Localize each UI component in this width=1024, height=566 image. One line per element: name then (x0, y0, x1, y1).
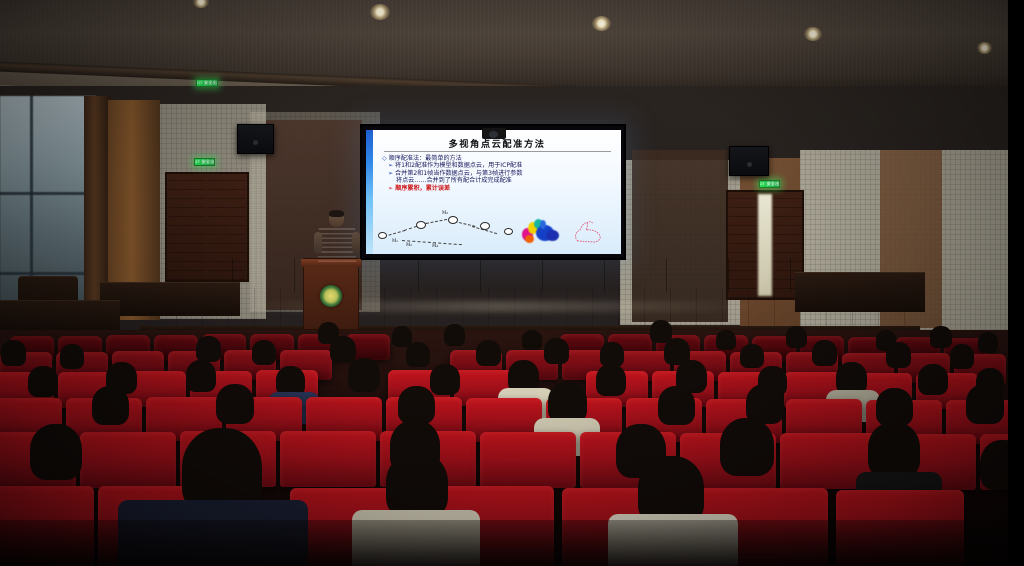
bullet-text-2: 合并第2和1帧当作数据点云，与第3帧进行参数 (395, 170, 522, 177)
audience-head (868, 422, 920, 478)
audience-head (548, 382, 587, 423)
ceiling-light-5 (977, 42, 992, 54)
audience-head (28, 366, 58, 397)
projection-screen: 多视角点云配准方法 ◇ 顺序配准法：最简单的方法 ➢ 将1和2配准作为模型和数据… (362, 126, 624, 258)
audience-head (876, 388, 913, 426)
audience-head (740, 344, 764, 368)
audience-head (918, 364, 948, 395)
presenter-torso (318, 225, 356, 262)
audience-head (92, 386, 129, 425)
presenter-hair (329, 210, 344, 217)
graph-node-5 (504, 228, 513, 235)
slide-figure: M₁ M₂ M₃ M₄ (372, 210, 617, 252)
bullet-text-1: 将1和2配准作为模型和数据点云，用于ICP配准 (395, 162, 522, 169)
bullet-text-0: 顺序配准法：最简单的方法 (389, 155, 462, 162)
seat (80, 432, 176, 488)
audience-head (216, 384, 254, 424)
audience-head (330, 336, 356, 363)
slide-title-rule (384, 151, 611, 152)
exit-sign-left: EXIT 安全出口 (194, 158, 215, 166)
side-table-left (100, 282, 240, 316)
audience-head (1, 340, 26, 366)
slide-bullet-list: ◇ 顺序配准法：最简单的方法 ➢ 将1和2配准作为模型和数据点云，用于ICP配准… (382, 155, 615, 192)
audience-head (886, 342, 911, 368)
audience-head (544, 338, 569, 364)
audience-head (720, 418, 774, 476)
audience-head (60, 344, 84, 369)
slide-bullet-1: ➢ 将1和2配准作为模型和数据点云，用于ICP配准 (382, 162, 615, 169)
graph-label-M4: M₄ (432, 243, 438, 248)
audience-head (196, 336, 221, 362)
graph-label-M2: M₂ (406, 242, 412, 247)
audience-head (658, 386, 695, 425)
projector-mount (482, 128, 506, 139)
auditorium-photo: EXIT 安全出口 EXIT 安全出口 EXIT 安全出口 多视角点云配准方法 … (0, 0, 1024, 566)
audience-head (406, 342, 430, 367)
audience-head (398, 386, 435, 424)
audience-head (786, 326, 807, 348)
presenter-arm-left (314, 232, 322, 254)
audience-head (386, 452, 448, 518)
foreground-shadow (0, 520, 1024, 566)
audience-head (444, 324, 465, 346)
bullet-text-3: 将点云……合并到了所有配合计成完成配准 (396, 177, 512, 184)
exit-sign-upper-label: EXIT 安全出口 (196, 80, 218, 86)
side-cabinet-right (795, 272, 925, 312)
exit-sign-right: EXIT 安全出口 (759, 180, 780, 188)
slide-content: 多视角点云配准方法 ◇ 顺序配准法：最简单的方法 ➢ 将1和2配准作为模型和数据… (366, 130, 621, 254)
presenter-arm-right (352, 232, 360, 254)
audience-head (522, 330, 542, 350)
audience-head (596, 364, 626, 396)
bullet-marker-4: ➢ (388, 185, 393, 192)
audience-head (476, 340, 501, 366)
audience-head (812, 340, 837, 366)
audience-head (716, 330, 736, 350)
color-point-cloud-bunny-icon (520, 218, 560, 244)
exit-sign-right-label: EXIT 安全出口 (759, 181, 780, 187)
slide-bullet-3: 将点云……合并到了所有配合计成完成配准 (382, 177, 615, 184)
speaker-left (237, 124, 274, 154)
graph-label-M3: M₃ (442, 210, 448, 215)
outline-bunny-icon (572, 220, 604, 244)
audience-head (186, 360, 216, 392)
podium-emblem (320, 285, 342, 307)
presenter (316, 210, 358, 262)
ceiling-light-2 (370, 4, 390, 20)
bullet-marker-0: ◇ (382, 155, 387, 162)
audience-head (930, 326, 952, 348)
console-left (0, 300, 120, 334)
letterbox-band-right (1008, 0, 1024, 566)
podium (303, 258, 359, 330)
bullet-marker-1: ➢ (388, 162, 393, 169)
audience-head (30, 424, 82, 480)
audience-head (252, 340, 276, 365)
audience-head (978, 332, 998, 353)
door-left-leaf-a (168, 174, 206, 280)
graph-node-1 (378, 232, 387, 239)
seat (480, 432, 576, 488)
graph-node-4 (480, 222, 490, 230)
audience-head (348, 358, 380, 392)
slide-bullet-4: ➢ 顺序累积，累计误差 (382, 185, 615, 192)
bullet-marker-2: ➢ (388, 170, 393, 177)
seat (280, 431, 376, 487)
exit-sign-left-label: EXIT 安全出口 (194, 159, 215, 165)
speaker-right (729, 146, 769, 176)
audience-head (430, 364, 460, 395)
audience-head (966, 384, 1004, 424)
ceiling-light-4 (804, 27, 822, 41)
graph-edge-1 (384, 230, 405, 237)
graph-label-M1: M₁ (392, 238, 398, 243)
exit-sign-upper: EXIT 安全出口 (196, 79, 218, 87)
graph-node-2 (416, 221, 426, 229)
bullet-text-4: 顺序累积，累计误差 (395, 185, 450, 192)
ceiling-light-3 (592, 16, 611, 31)
graph-node-3 (448, 216, 458, 224)
audience-head (950, 344, 974, 369)
outline-bunny-svg (572, 220, 604, 244)
